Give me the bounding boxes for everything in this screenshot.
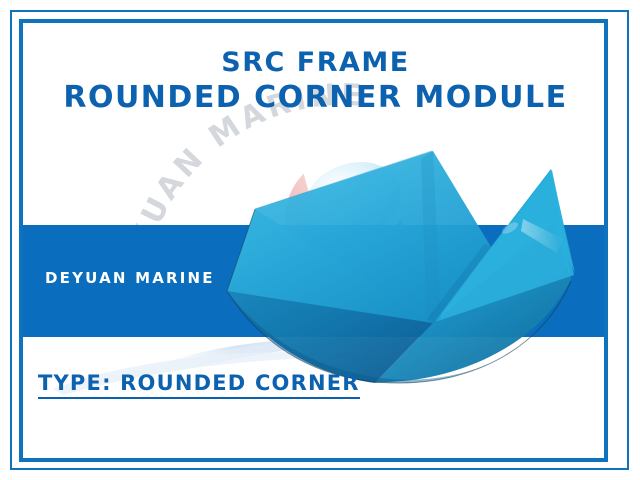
sheet-canvas: DEYUAN MARINE — [23, 23, 608, 462]
page-title-line-1: SRC FRAME — [23, 47, 608, 80]
spec-sheet-page: DEYUAN MARINE — [0, 0, 640, 480]
product-type-label: TYPE: ROUNDED CORNER — [38, 371, 360, 399]
title-block: SRC FRAME ROUNDED CORNER MODULE — [23, 47, 608, 117]
brand-name-label: DEYUAN MARINE — [45, 269, 215, 287]
page-title-line-2: ROUNDED CORNER MODULE — [23, 80, 608, 117]
